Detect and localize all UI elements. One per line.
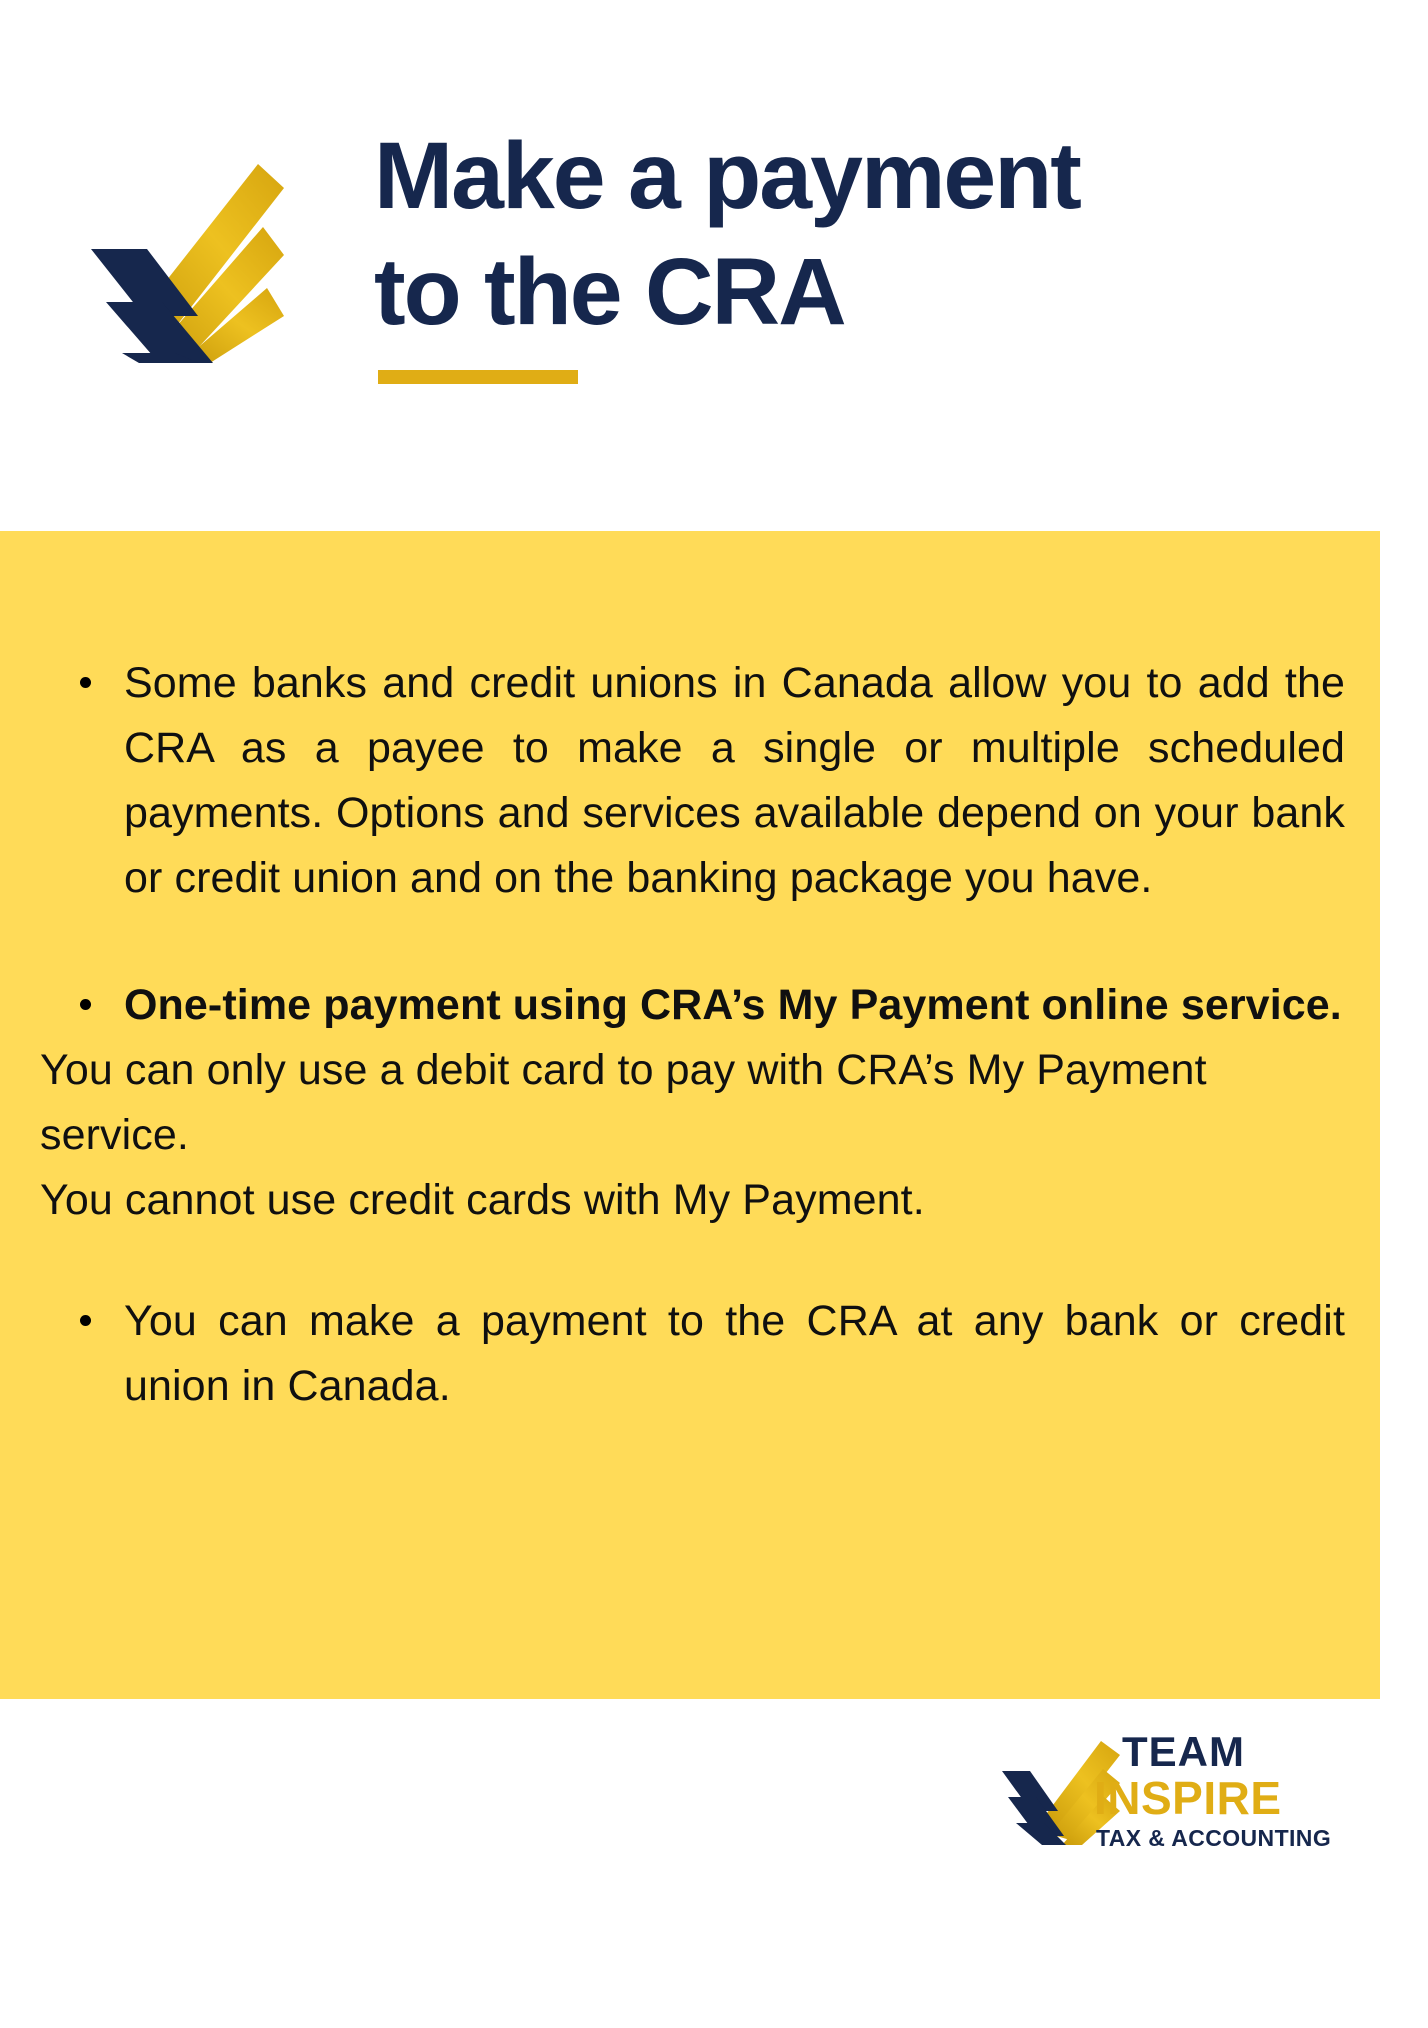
- header-section: Make a payment to the CRA: [0, 0, 1428, 531]
- paragraph-no-credit-cards: You cannot use credit cards with My Paym…: [40, 1168, 1345, 1233]
- page-title-line-1: Make a payment: [374, 118, 1354, 234]
- bullet-banks-credit-unions-text: Some banks and credit unions in Canada a…: [124, 651, 1345, 911]
- list-item: One-time payment using CRA’s My Payment …: [40, 973, 1345, 1038]
- footer-brand-text: TEAM INSPIRE TAX & ACCOUNTING: [1122, 1731, 1331, 1850]
- bullet-list-primary: Some banks and credit unions in Canada a…: [40, 651, 1345, 911]
- spacer: [40, 911, 1345, 973]
- bullet-list-tertiary: You can make a payment to the CRA at any…: [40, 1289, 1345, 1419]
- bullet-any-bank-text: You can make a payment to the CRA at any…: [124, 1289, 1345, 1419]
- footer-brand-line-2: INSPIRE: [1094, 1775, 1282, 1821]
- page-title-line-2: to the CRA: [374, 234, 1354, 350]
- gold-underline-bar: [378, 370, 578, 384]
- list-item: Some banks and credit unions in Canada a…: [40, 651, 1345, 911]
- paragraph-debit-card-only: You can only use a debit card to pay wit…: [40, 1038, 1345, 1168]
- spacer: [40, 1233, 1345, 1289]
- bullet-one-time-payment-text: One-time payment using CRA’s My Payment …: [124, 973, 1345, 1038]
- content-panel: Some banks and credit unions in Canada a…: [0, 531, 1380, 1699]
- footer-tagline: TAX & ACCOUNTING: [1096, 1827, 1331, 1850]
- footer-brand-line-1: TEAM: [1122, 1731, 1245, 1773]
- list-item: You can make a payment to the CRA at any…: [40, 1289, 1345, 1419]
- footer-section: TEAM INSPIRE TAX & ACCOUNTING: [0, 1699, 1428, 2028]
- team-inspire-checkmark-logo-icon: [34, 128, 284, 363]
- page-title: Make a payment to the CRA: [374, 118, 1354, 384]
- content-panel-inner: Some banks and credit unions in Canada a…: [40, 651, 1345, 1419]
- footer-brand-logo: TEAM INSPIRE TAX & ACCOUNTING: [1000, 1723, 1345, 1858]
- poster-page: Make a payment to the CRA Some banks and…: [0, 0, 1428, 2028]
- bullet-list-secondary: One-time payment using CRA’s My Payment …: [40, 973, 1345, 1038]
